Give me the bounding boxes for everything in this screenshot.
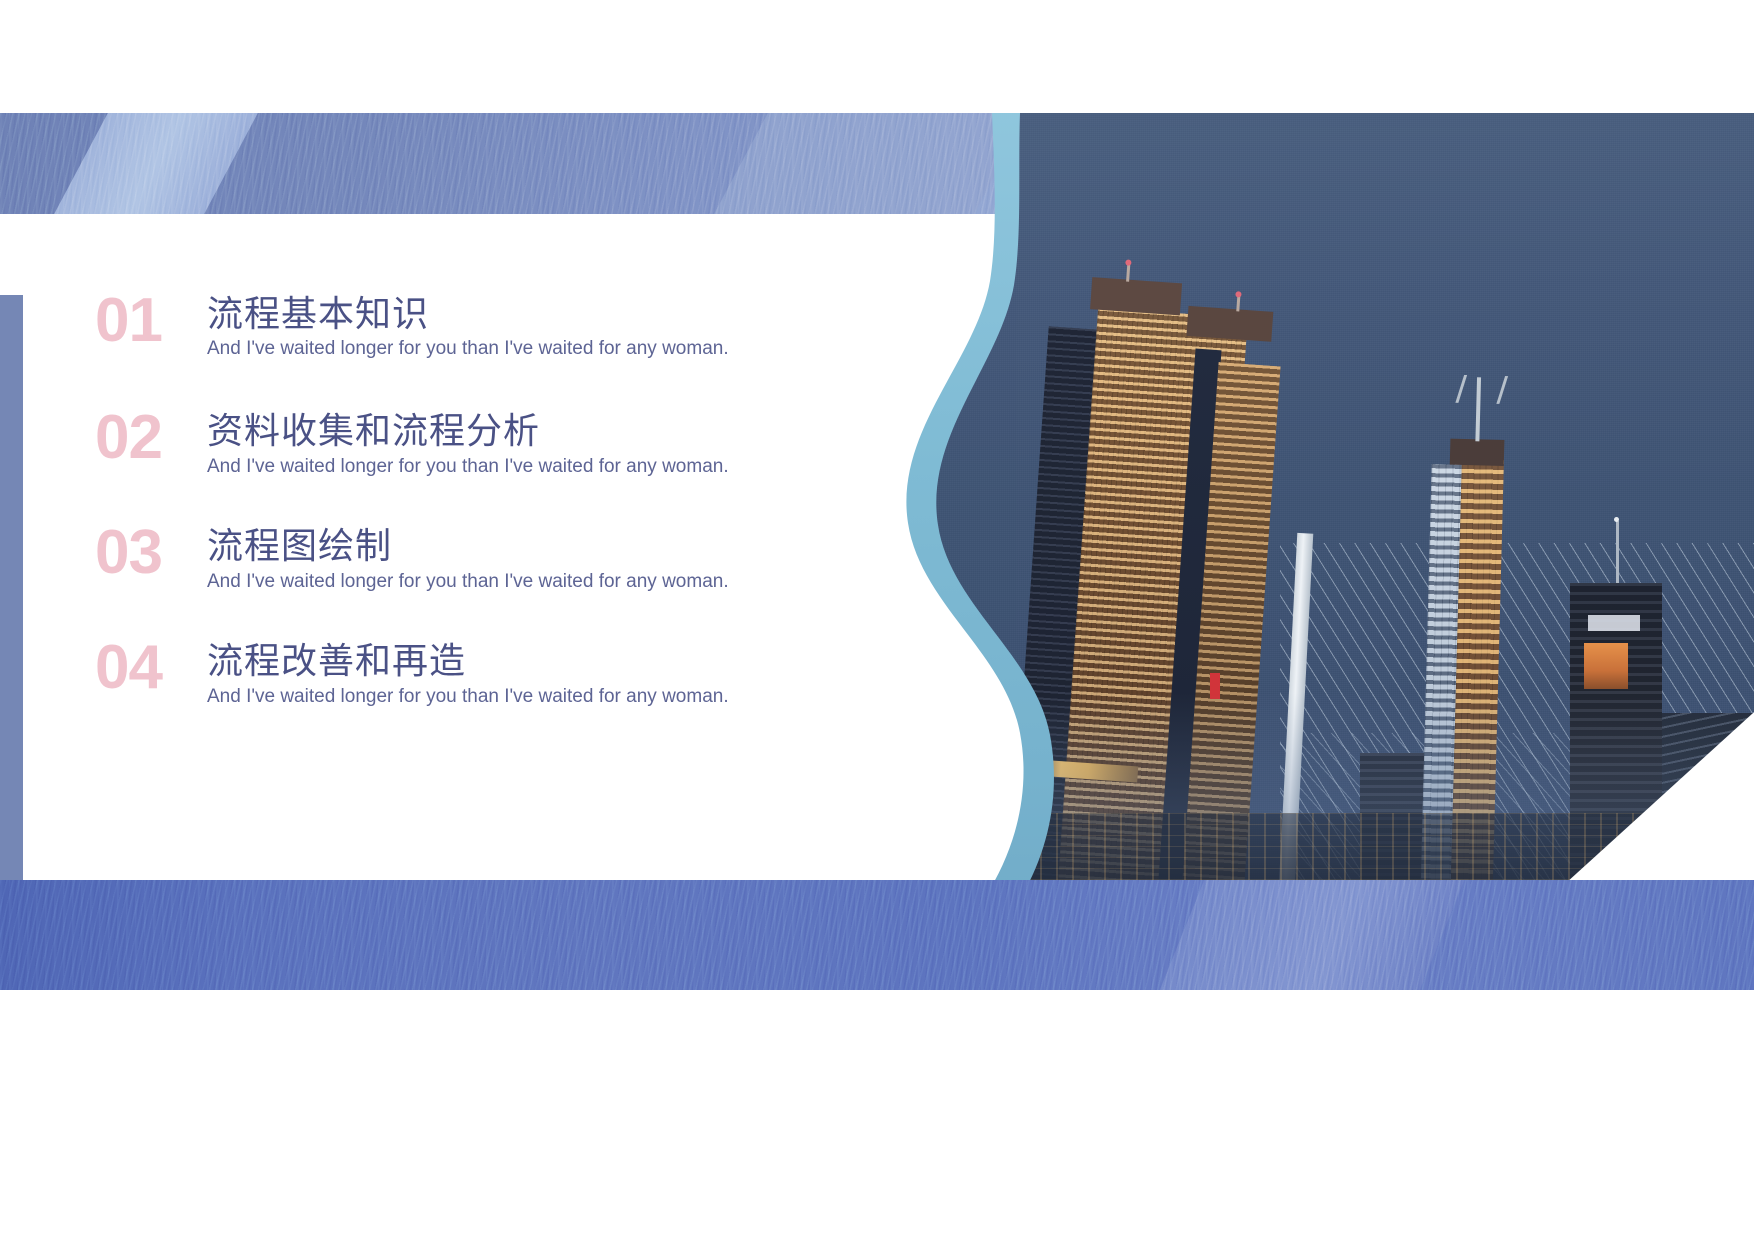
slim-tower-crown-icon (1455, 375, 1508, 404)
item-subtitle: And I've waited longer for you than I've… (207, 455, 855, 479)
main-tower-roof-cap (1090, 277, 1182, 315)
bottom-decorative-banner (0, 880, 1754, 990)
item-title: 流程基本知识 (207, 294, 855, 335)
main-tower-roof-cap-2 (1186, 306, 1273, 342)
rooftop-sign (1588, 615, 1640, 631)
item-title: 流程改善和再造 (207, 641, 855, 682)
bottom-white-fill (0, 990, 1754, 1239)
item-number: 04 (95, 639, 207, 698)
item-subtitle: And I've waited longer for you than I've… (207, 337, 855, 361)
item-text-group: 资料收集和流程分析 And I've waited longer for you… (207, 409, 855, 478)
item-text-group: 流程图绘制 And I've waited longer for you tha… (207, 524, 855, 593)
bottom-banner-texture-overlay (0, 880, 1754, 990)
city-photo-panel (880, 113, 1754, 993)
list-item[interactable]: 03 流程图绘制 And I've waited longer for you … (95, 524, 855, 593)
item-subtitle: And I've waited longer for you than I've… (207, 685, 855, 709)
item-number: 01 (95, 292, 207, 351)
item-subtitle: And I've waited longer for you than I've… (207, 570, 855, 594)
list-item[interactable]: 04 流程改善和再造 And I've waited longer for yo… (95, 639, 855, 708)
agenda-list: 01 流程基本知识 And I've waited longer for you… (95, 292, 855, 753)
list-item[interactable]: 01 流程基本知识 And I've waited longer for you… (95, 292, 855, 361)
item-title: 资料收集和流程分析 (207, 411, 855, 452)
antenna-mast-icon (1616, 521, 1619, 583)
item-text-group: 流程改善和再造 And I've waited longer for you t… (207, 639, 855, 708)
item-title: 流程图绘制 (207, 526, 855, 567)
mast-light-icon (1614, 517, 1619, 522)
bottom-banner-light-wedge (1144, 880, 1477, 990)
list-item[interactable]: 02 资料收集和流程分析 And I've waited longer for … (95, 409, 855, 478)
left-accent-bar (0, 295, 23, 880)
item-text-group: 流程基本知识 And I've waited longer for you th… (207, 292, 855, 361)
item-number: 02 (95, 409, 207, 468)
slim-tower-cap (1450, 439, 1505, 466)
item-number: 03 (95, 524, 207, 583)
presentation-slide: 01 流程基本知识 And I've waited longer for you… (0, 0, 1754, 1239)
lit-window-block (1584, 643, 1628, 689)
